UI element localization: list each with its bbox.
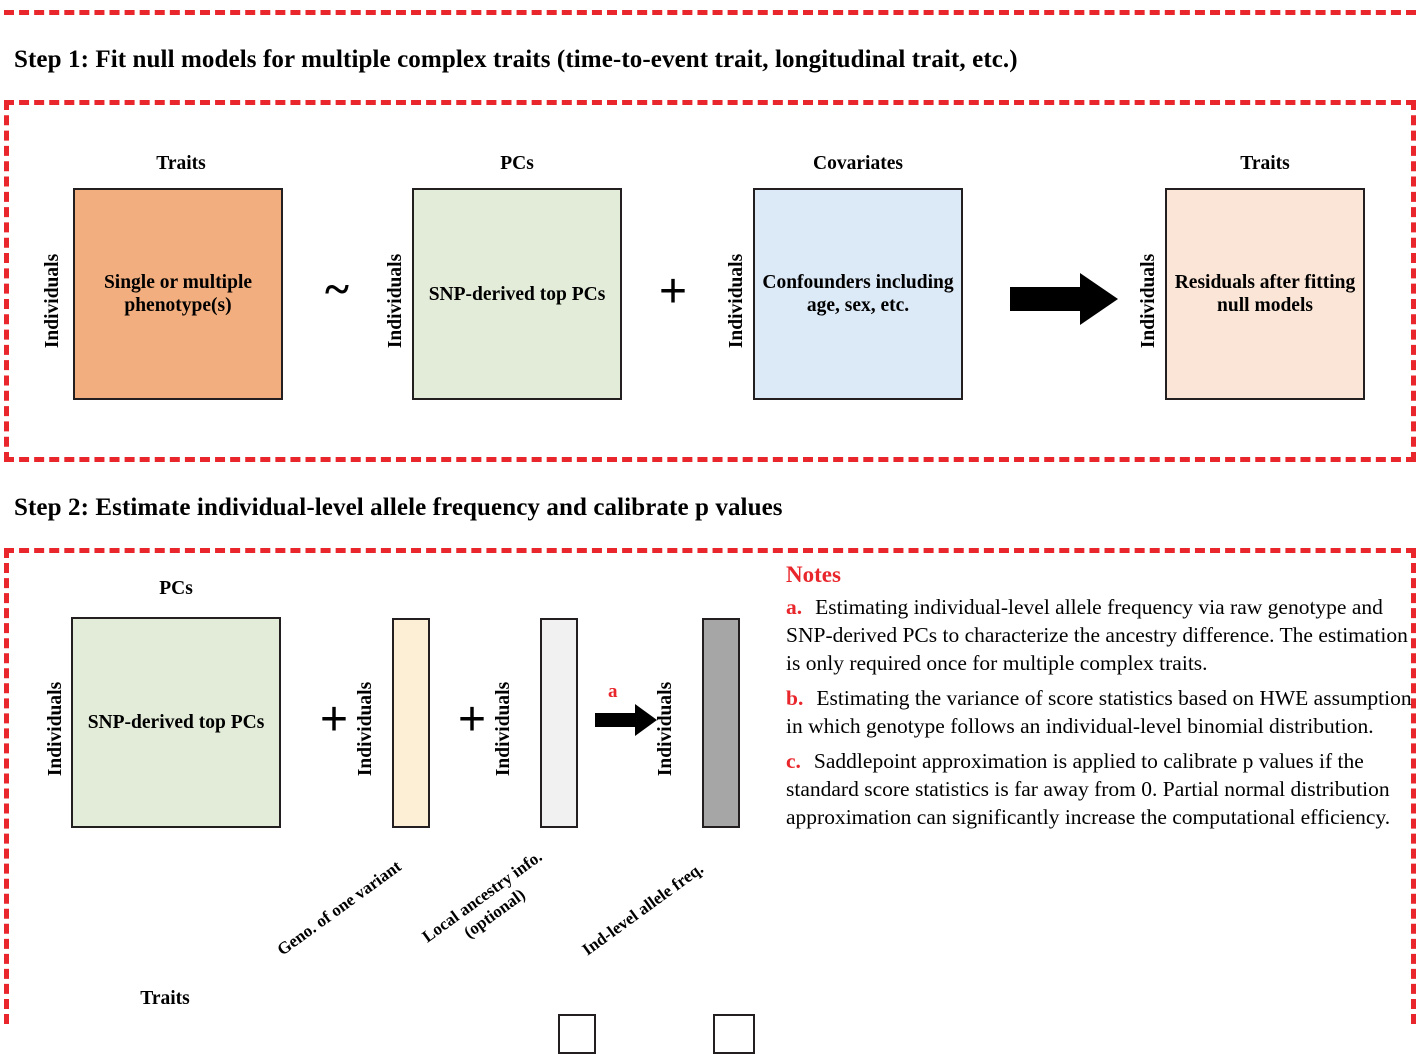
notes-title: Notes bbox=[786, 562, 1418, 588]
step2-allelefreq-row-label: Individuals bbox=[655, 659, 677, 799]
note-b-text: Estimating the variance of score statist… bbox=[786, 686, 1412, 738]
step1-phenotypes-row-label: Individuals bbox=[42, 231, 64, 371]
operator-tilde: ~ bbox=[312, 266, 362, 312]
note-ref-a: a bbox=[608, 681, 618, 703]
operator-plus-2-step2: + bbox=[447, 696, 497, 744]
matrix-phenotypes-text: Single or multiple phenotype(s) bbox=[75, 271, 281, 317]
step1-title: Step 1: Fit null models for multiple com… bbox=[14, 46, 1018, 74]
note-item-c: c.Saddlepoint approximation is applied t… bbox=[786, 748, 1418, 832]
step1-covariates-row-label: Individuals bbox=[726, 231, 748, 371]
bottom-partial-box-1 bbox=[558, 1014, 596, 1054]
step1-pcs-col-label: PCs bbox=[412, 153, 622, 175]
matrix-pcs-step2: SNP-derived top PCs bbox=[71, 617, 281, 828]
note-c-tag: c. bbox=[786, 749, 801, 773]
note-b-tag: b. bbox=[786, 686, 803, 710]
step1-residuals-col-label: Traits bbox=[1165, 153, 1365, 175]
note-a-text: Estimating individual-level allele frequ… bbox=[786, 595, 1408, 675]
operator-plus-step1: + bbox=[648, 268, 698, 316]
notes-panel: Notes a.Estimating individual-level alle… bbox=[786, 562, 1418, 839]
step1-residuals-row-label: Individuals bbox=[1138, 231, 1160, 371]
step2-localancestry-row-label: Individuals bbox=[493, 659, 515, 799]
matrix-covariates-text: Confounders including age, sex, etc. bbox=[755, 271, 961, 317]
note-item-a: a.Estimating individual-level allele fre… bbox=[786, 594, 1418, 678]
matrix-residuals: Residuals after fitting null models bbox=[1165, 188, 1365, 400]
matrix-covariates: Confounders including age, sex, etc. bbox=[753, 188, 963, 400]
top-dashed-rule bbox=[4, 10, 1416, 15]
step2-pcs-row-label: Individuals bbox=[45, 659, 67, 799]
step1-covariates-col-label: Covariates bbox=[753, 153, 963, 175]
step1-traits-col-label: Traits bbox=[75, 153, 287, 175]
vector-allele-frequency bbox=[702, 618, 740, 828]
step2-genotype-row-label: Individuals bbox=[355, 659, 377, 799]
note-item-b: b.Estimating the variance of score stati… bbox=[786, 685, 1418, 741]
matrix-pcs-step1: SNP-derived top PCs bbox=[412, 188, 622, 400]
step1-pcs-row-label: Individuals bbox=[385, 231, 407, 371]
matrix-pcs-step1-text: SNP-derived top PCs bbox=[423, 283, 612, 306]
operator-plus-1-step2: + bbox=[309, 696, 359, 744]
note-c-text: Saddlepoint approximation is applied to … bbox=[786, 749, 1390, 829]
figure-canvas: Step 1: Fit null models for multiple com… bbox=[0, 0, 1420, 1024]
matrix-phenotypes: Single or multiple phenotype(s) bbox=[73, 188, 283, 400]
bottom-partial-box-2 bbox=[713, 1014, 755, 1054]
vector-genotype bbox=[392, 618, 430, 828]
step2-bottom-traits-label: Traits bbox=[100, 988, 230, 1010]
fit-arrow-icon bbox=[1010, 273, 1118, 325]
matrix-pcs-step2-text: SNP-derived top PCs bbox=[82, 711, 271, 734]
step2-pcs-col-label: PCs bbox=[70, 578, 282, 600]
note-a-tag: a. bbox=[786, 595, 802, 619]
vector-local-ancestry bbox=[540, 618, 578, 828]
estimate-arrow-icon bbox=[595, 704, 657, 736]
matrix-residuals-text: Residuals after fitting null models bbox=[1167, 271, 1363, 317]
step2-title: Step 2: Estimate individual-level allele… bbox=[14, 494, 783, 522]
